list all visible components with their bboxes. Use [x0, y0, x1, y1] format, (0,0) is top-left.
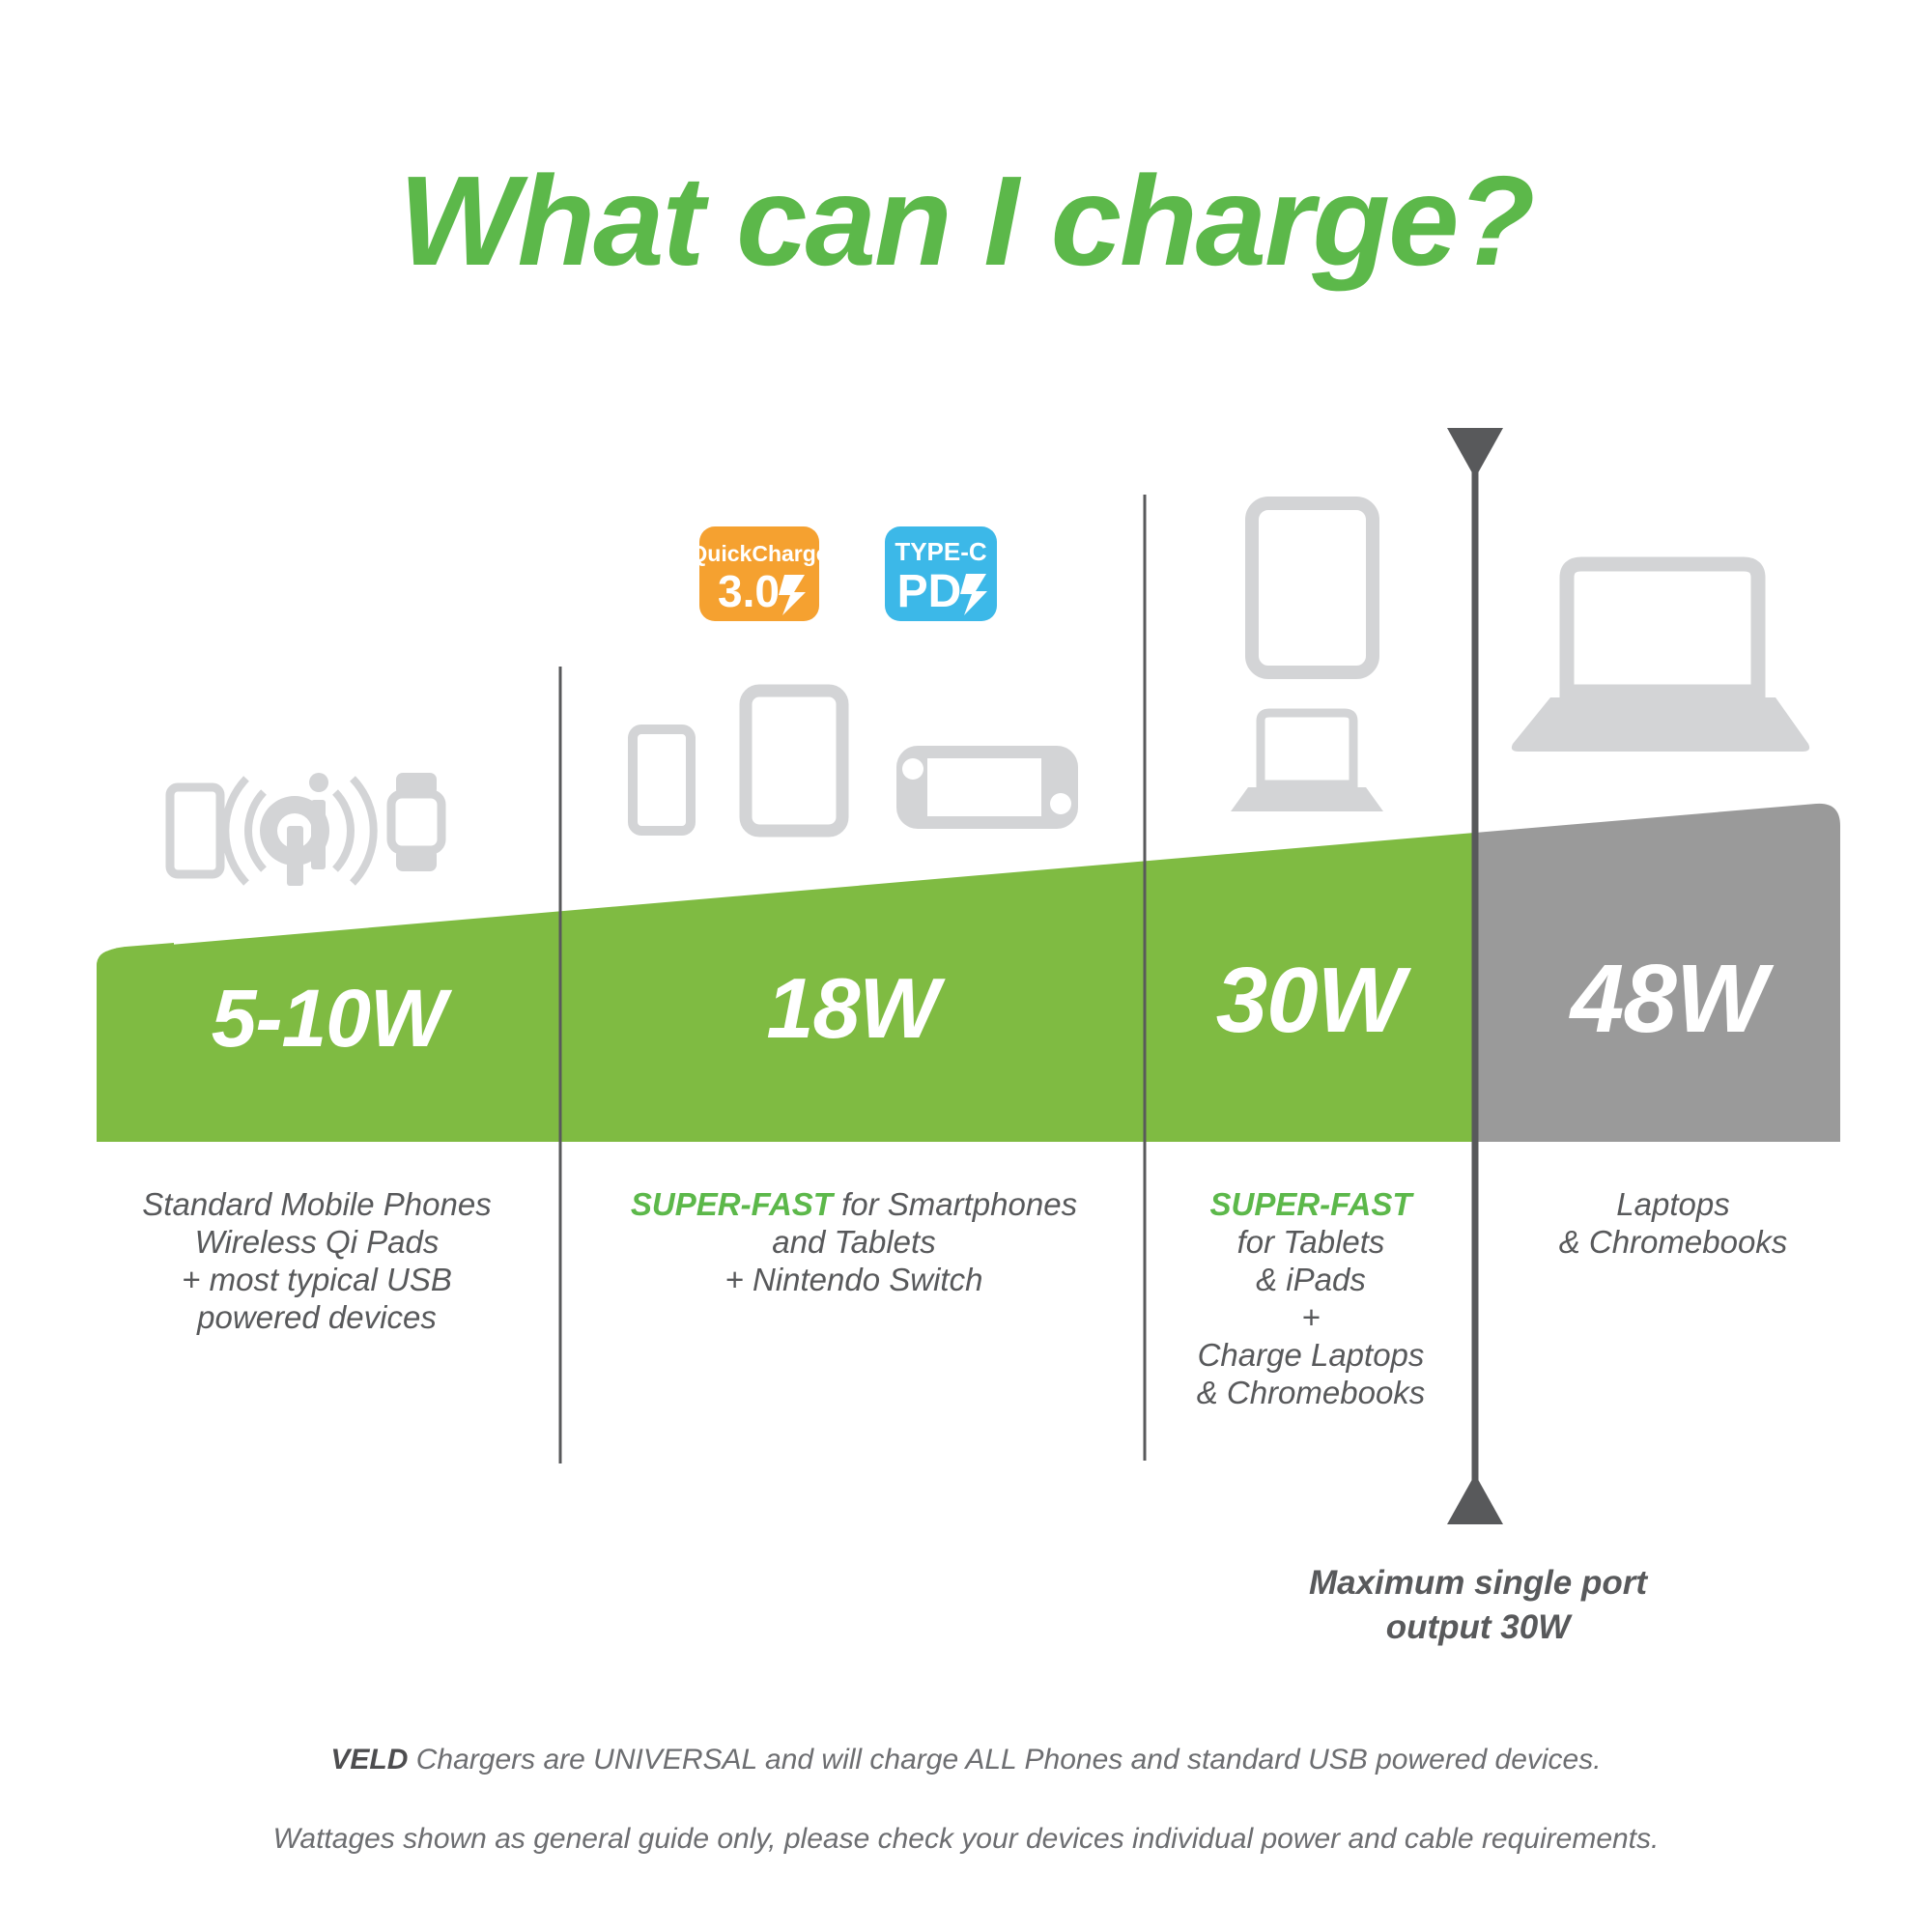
caption-line: Laptops [1480, 1186, 1866, 1224]
qi-wireless-icon [225, 773, 373, 886]
watt-label-30w: 30W [1145, 954, 1475, 1047]
annotation-line: Maximum single port [1169, 1561, 1787, 1605]
page-title: What can I charge? [0, 155, 1932, 289]
caption-line: Wireless Qi Pads [75, 1224, 558, 1262]
caption-line: Standard Mobile Phones [75, 1186, 558, 1224]
tier-caption-18w: SUPER-FAST for Smartphones and Tablets +… [565, 1186, 1143, 1299]
tier-caption-30w: SUPER-FAST for Tablets & iPads + Charge … [1150, 1186, 1472, 1412]
caption-line: & iPads [1150, 1262, 1472, 1299]
tablet-icon [746, 691, 842, 831]
watt-label-48w: 48W [1475, 951, 1861, 1047]
laptop-small-icon [1231, 713, 1383, 811]
svg-text:3.0: 3.0 [718, 566, 780, 616]
caption-line: powered devices [75, 1299, 558, 1337]
infographic-canvas: What can I charge? [0, 0, 1932, 1932]
svg-text:TYPE-C: TYPE-C [895, 537, 987, 566]
caption-line: + Nintendo Switch [565, 1262, 1143, 1299]
caption-line: & Chromebooks [1480, 1224, 1866, 1262]
footer-note-2: Wattages shown as general guide only, pl… [0, 1823, 1932, 1856]
caption-line: & Chromebooks [1150, 1375, 1472, 1412]
footer-note-1: VELD Chargers are UNIVERSAL and will cha… [0, 1744, 1932, 1776]
super-fast-highlight: SUPER-FAST [1150, 1186, 1472, 1224]
phone-icon [633, 729, 691, 831]
brand-name: VELD [330, 1744, 408, 1776]
svg-text:QuickCharge: QuickCharge [690, 541, 828, 566]
caption-line: + [1150, 1299, 1472, 1337]
caption-line: and Tablets [565, 1224, 1143, 1262]
quickcharge-badge: QuickCharge 3.0 [690, 526, 828, 621]
watt-label-5-10w: 5-10W [97, 978, 560, 1059]
watt-label-18w: 18W [560, 966, 1145, 1051]
footer-text: Chargers are UNIVERSAL and will charge A… [408, 1744, 1601, 1776]
tier-caption-5-10w: Standard Mobile Phones Wireless Qi Pads … [75, 1186, 558, 1337]
phone-icon [170, 787, 220, 874]
smartwatch-icon [391, 773, 441, 871]
super-fast-highlight: SUPER-FAST [631, 1186, 833, 1222]
caption-line: Charge Laptops [1150, 1337, 1472, 1375]
typec-pd-badge: TYPE-C PD [885, 526, 997, 621]
tablet-icon [1252, 503, 1373, 672]
caption-line: for Tablets [1150, 1224, 1472, 1262]
annotation-line: output 30W [1169, 1605, 1787, 1650]
laptop-large-icon [1512, 564, 1809, 752]
caption-line: + most typical USB [75, 1262, 558, 1299]
tier-caption-48w: Laptops & Chromebooks [1480, 1186, 1866, 1262]
svg-text:PD: PD [897, 566, 962, 617]
caption-text: for Smartphones [833, 1186, 1077, 1222]
max-output-annotation: Maximum single port output 30W [1169, 1561, 1787, 1649]
game-console-icon [896, 746, 1078, 829]
caption-line: SUPER-FAST for Smartphones [565, 1186, 1143, 1224]
